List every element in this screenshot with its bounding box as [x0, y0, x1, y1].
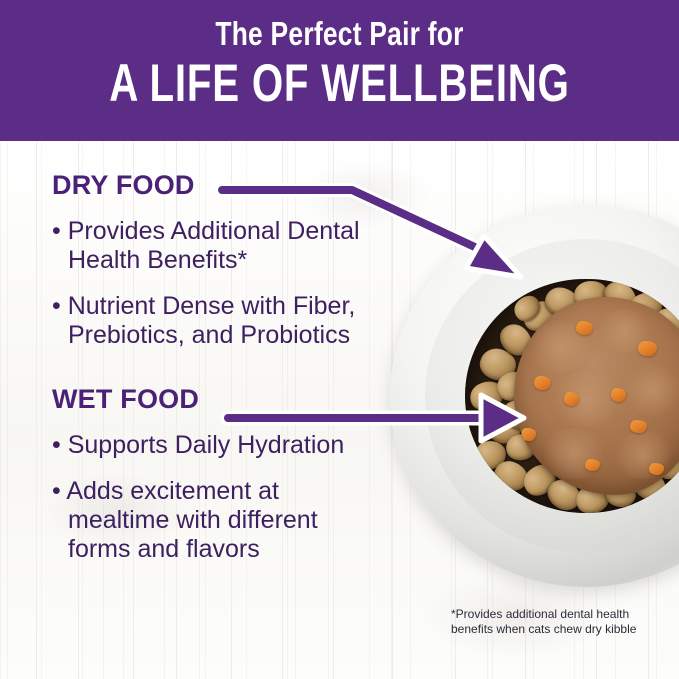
wet-food-heading: WET FOOD	[52, 384, 362, 414]
bullet-text: Adds excitement at mealtime with differe…	[66, 477, 317, 563]
wet-food-bullet-list: • Supports Daily Hydration • Adds excite…	[52, 431, 362, 564]
dry-food-heading: DRY FOOD	[52, 170, 362, 200]
bullet-text: Provides Additional Dental Health Benefi…	[68, 217, 360, 274]
bullet-marker: •	[52, 217, 61, 245]
bullet-marker: •	[52, 431, 61, 459]
banner-title: A LIFE OF WELLBEING	[81, 56, 597, 112]
list-item: • Adds excitement at mealtime with diffe…	[52, 477, 362, 564]
footnote-line-2: benefits when cats chew dry kibble	[451, 622, 679, 637]
banner-subtitle: The Perfect Pair for	[68, 16, 611, 52]
infographic-root: DRY FOOD • Provides Additional Dental He…	[0, 0, 679, 679]
list-item: • Supports Daily Hydration	[52, 431, 362, 460]
bullet-text: Nutrient Dense with Fiber, Prebiotics, a…	[68, 292, 356, 349]
dry-food-bullet-list: • Provides Additional Dental Health Bene…	[52, 217, 362, 350]
header-banner: The Perfect Pair for A LIFE OF WELLBEING	[0, 0, 679, 141]
footnote-line-1: *Provides additional dental health	[451, 607, 679, 622]
copy-column: DRY FOOD • Provides Additional Dental He…	[52, 170, 362, 564]
footnote: *Provides additional dental health benef…	[451, 607, 679, 637]
list-item: • Provides Additional Dental Health Bene…	[52, 217, 362, 275]
wet-food-section: WET FOOD • Supports Daily Hydration • Ad…	[52, 384, 362, 564]
list-item: • Nutrient Dense with Fiber, Prebiotics,…	[52, 292, 362, 350]
bullet-marker: •	[52, 292, 61, 320]
bullet-text: Supports Daily Hydration	[68, 431, 345, 459]
bullet-marker: •	[52, 477, 61, 505]
dry-food-section: DRY FOOD • Provides Additional Dental He…	[52, 170, 362, 350]
